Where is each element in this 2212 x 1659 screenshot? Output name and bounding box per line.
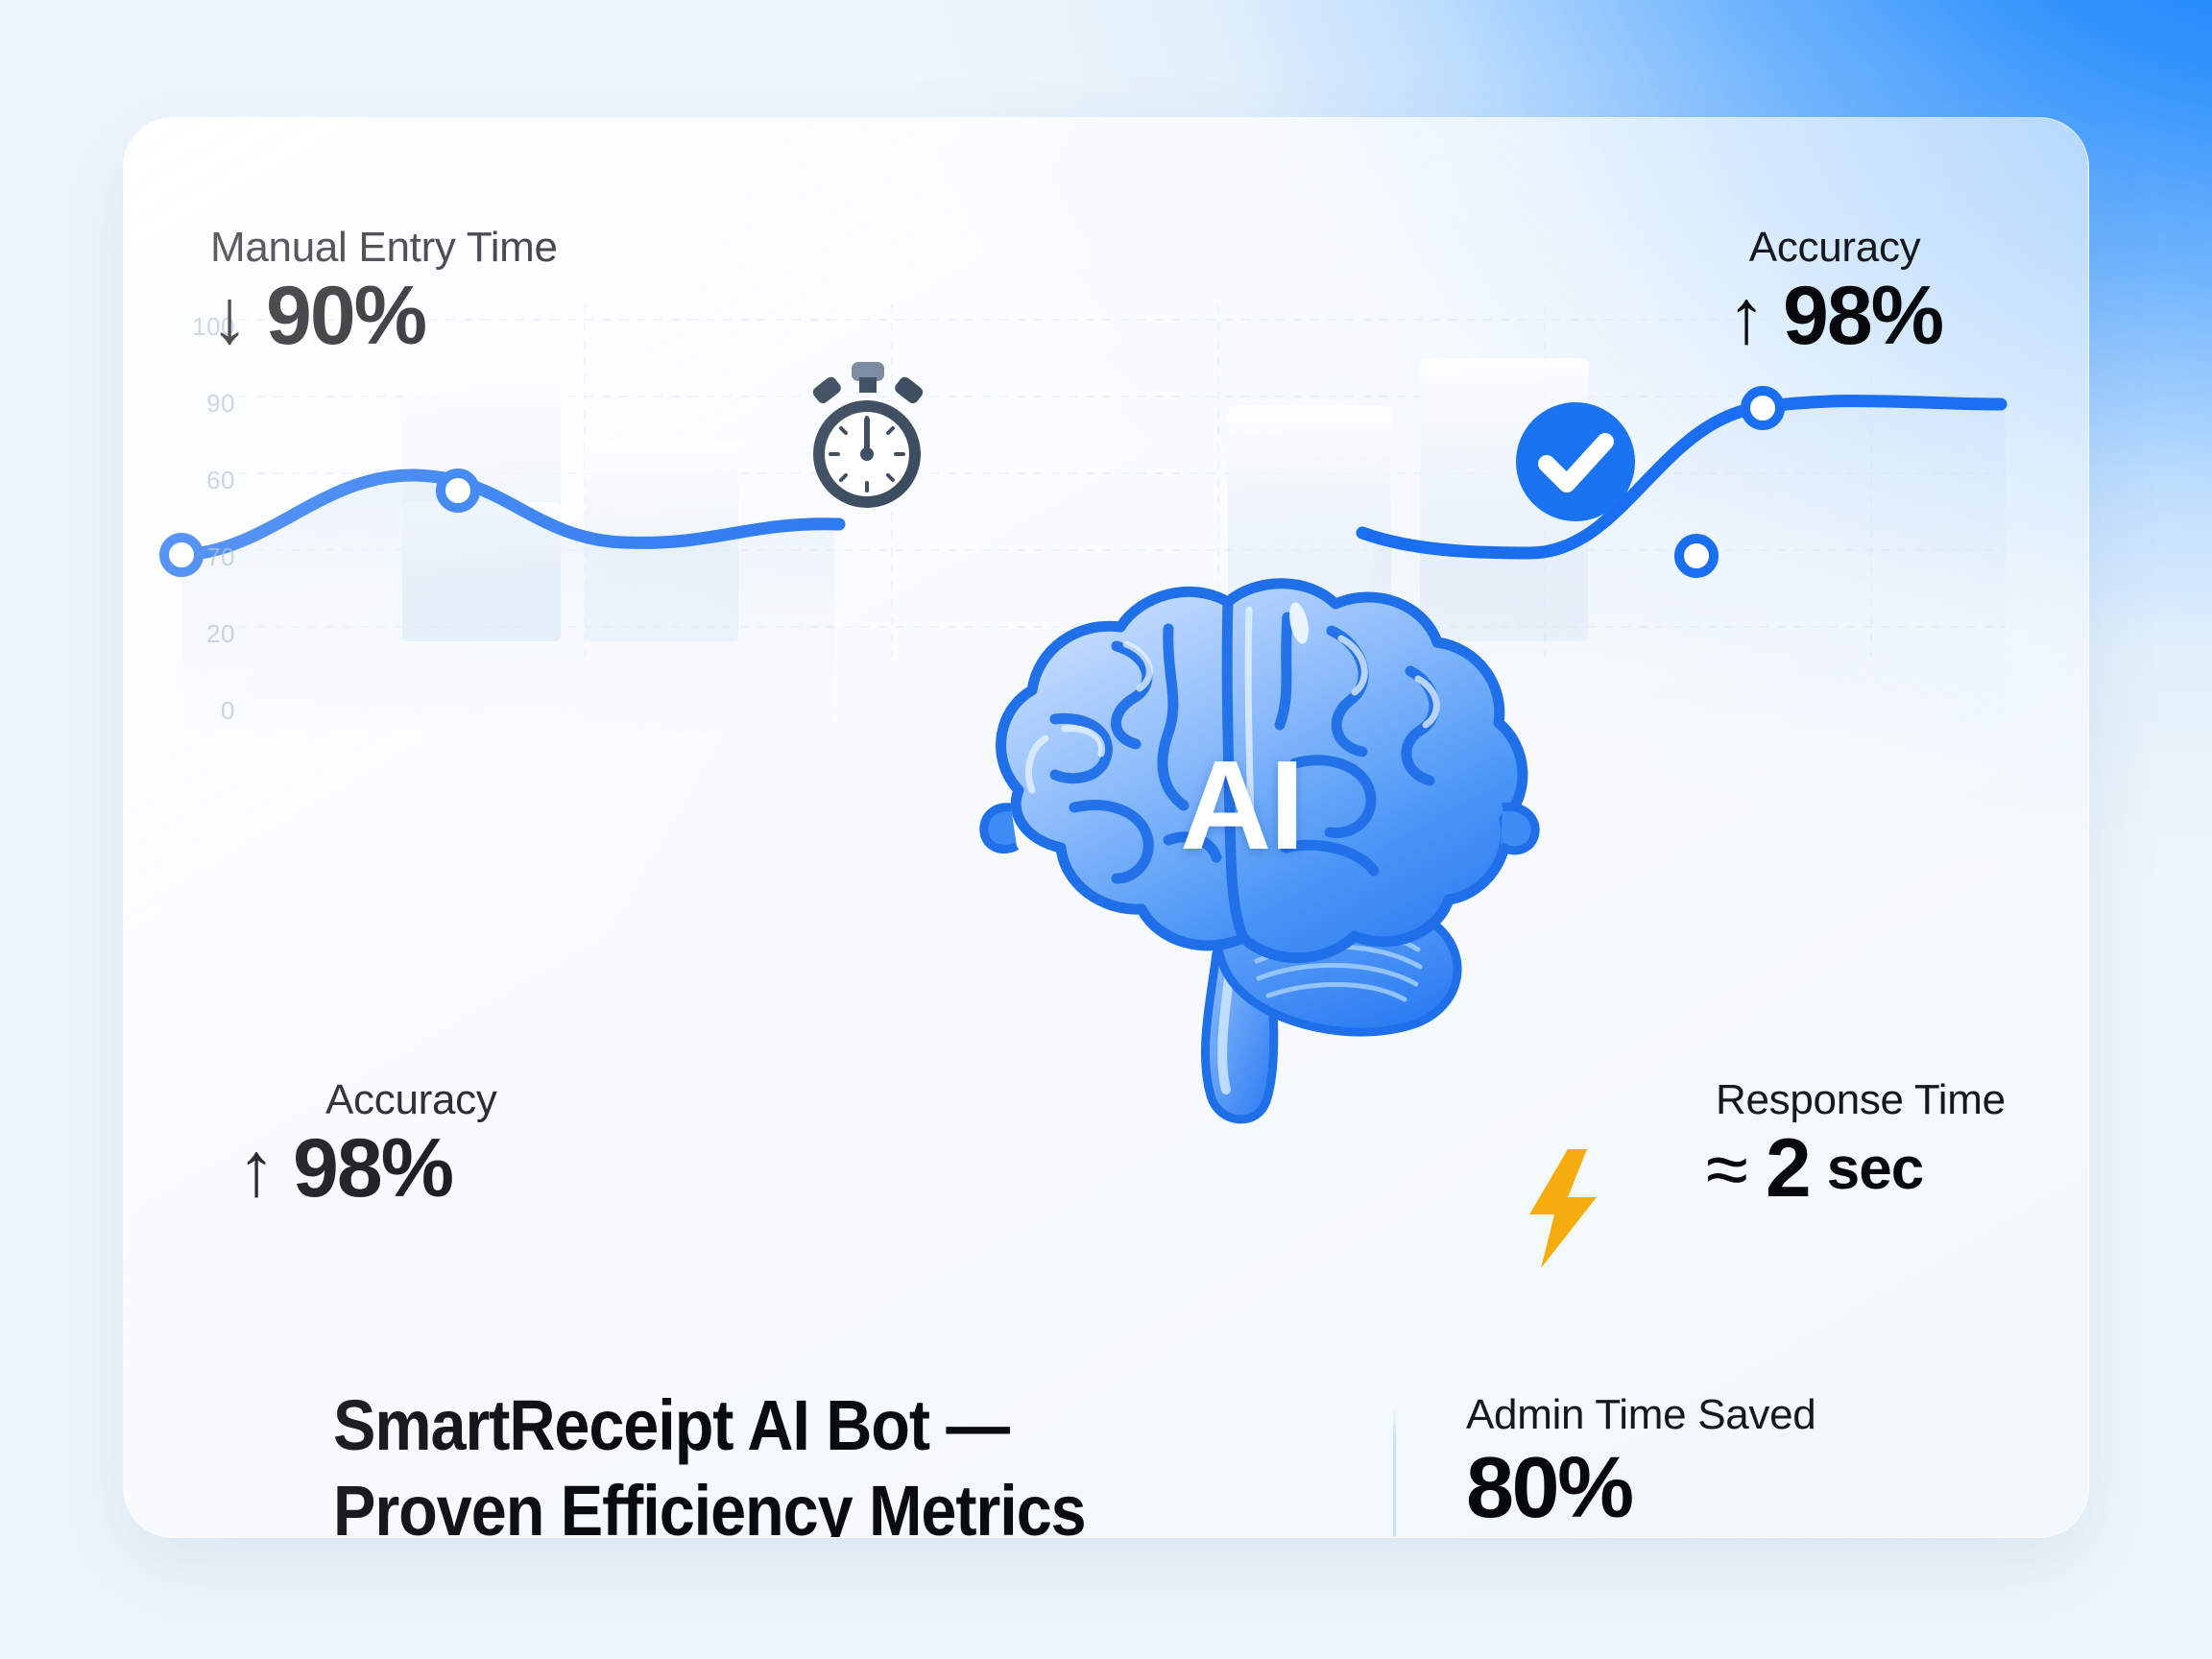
metric-value-row: ↑ 98% bbox=[1727, 270, 1942, 362]
metric-accuracy-top: Accuracy ↑ 98% bbox=[1727, 226, 1942, 363]
metric-value: 98% bbox=[1783, 270, 1942, 362]
metric-caption: Accuracy bbox=[237, 1078, 497, 1122]
headline-line-1: SmartReceipt AI Bot — bbox=[333, 1383, 1197, 1469]
arrow-up-icon: ↑ bbox=[1727, 274, 1766, 360]
vertical-divider bbox=[1393, 1405, 1396, 1538]
lightning-bolt-icon bbox=[1514, 1147, 1610, 1270]
case-study-block: Admin Time Saved 80% (Case Study) bbox=[1466, 1391, 1815, 1538]
brain-ai-label: AI bbox=[1180, 733, 1303, 878]
headline-line-2: Proven Efficiency Metrics bbox=[333, 1469, 1197, 1538]
infographic-card: 100 90 60 70 20 0 Manual Entry Time ↓ 90… bbox=[123, 117, 2089, 1538]
approx-equals-icon: ≈ bbox=[1706, 1126, 1748, 1213]
metric-value-row: ↑ 98% bbox=[237, 1122, 497, 1214]
page-title: SmartReceipt AI Bot — Proven Efficiency … bbox=[333, 1383, 1197, 1538]
y-tick-90: 90 bbox=[168, 389, 235, 419]
metric-manual-entry-time: Manual Entry Time ↓ 90% bbox=[210, 226, 558, 363]
metric-value-row: ≈ 2 sec bbox=[1706, 1122, 2006, 1214]
metric-response-time: Response Time ≈ 2 sec bbox=[1706, 1078, 2006, 1215]
metric-value-row: ↓ 90% bbox=[210, 270, 558, 362]
metric-value: 2 bbox=[1766, 1122, 1810, 1214]
y-tick-20: 20 bbox=[168, 619, 235, 649]
metric-accuracy-bottom: Accuracy ↑ 98% bbox=[237, 1078, 497, 1215]
arrow-up-icon: ↑ bbox=[237, 1126, 276, 1213]
arrow-down-icon: ↓ bbox=[210, 274, 249, 360]
case-study-value: 80% bbox=[1466, 1439, 1815, 1538]
case-study-caption: Admin Time Saved bbox=[1466, 1391, 1815, 1439]
metric-caption: Manual Entry Time bbox=[210, 226, 558, 270]
metric-value: 98% bbox=[293, 1122, 452, 1214]
metric-unit: sec bbox=[1827, 1136, 1923, 1202]
metric-caption: Response Time bbox=[1706, 1078, 2006, 1122]
y-tick-0: 0 bbox=[168, 696, 235, 726]
metric-caption: Accuracy bbox=[1727, 226, 1942, 270]
stopwatch-icon bbox=[796, 360, 938, 514]
metric-value: 90% bbox=[266, 270, 425, 362]
y-tick-70: 70 bbox=[168, 542, 235, 572]
y-tick-60: 60 bbox=[168, 466, 235, 495]
